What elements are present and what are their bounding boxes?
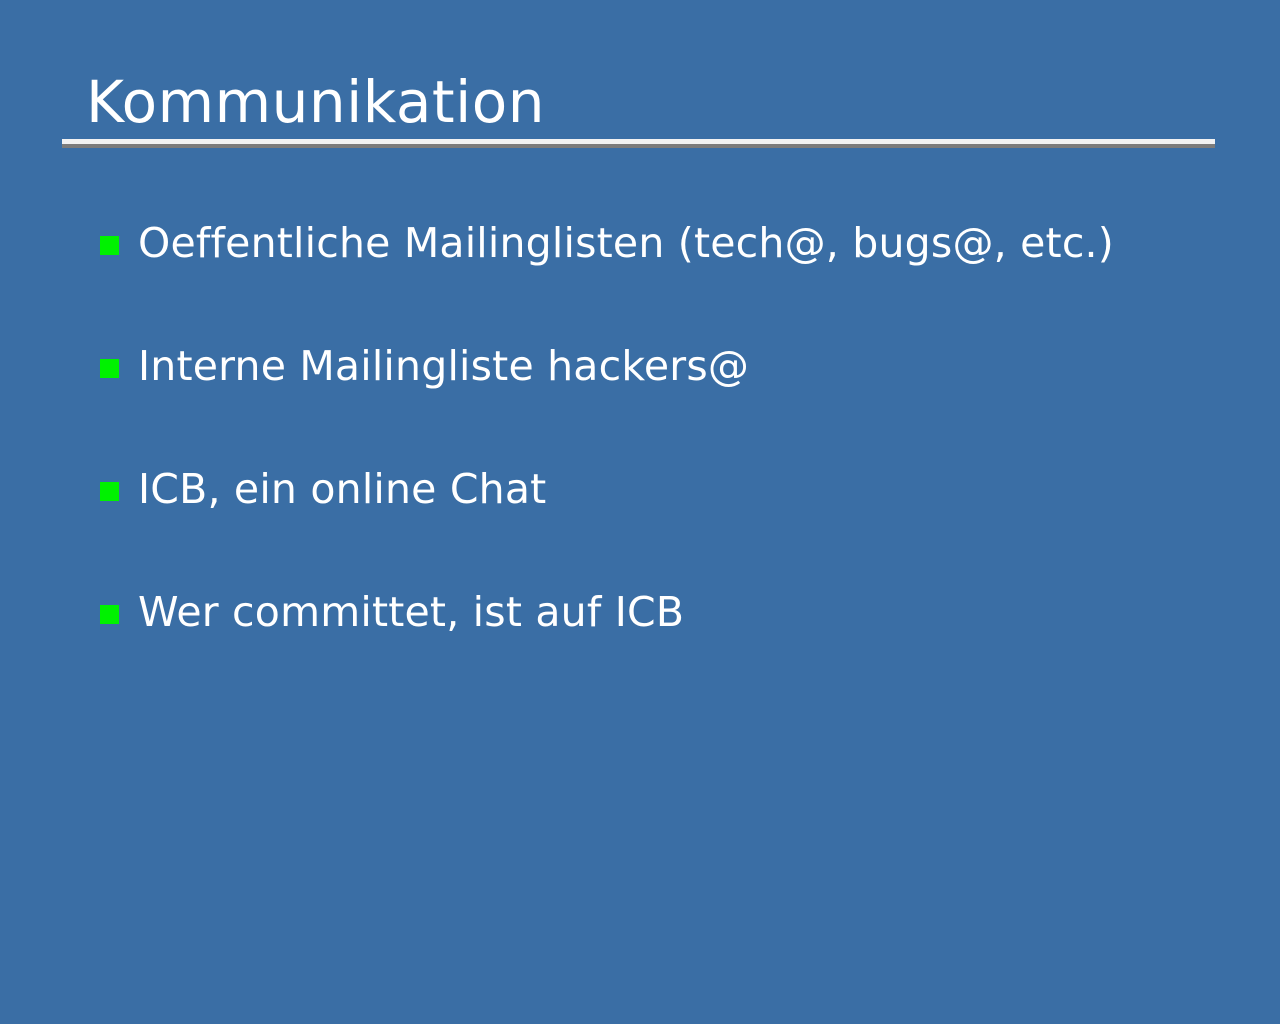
list-item: Interne Mailingliste hackers@ [100, 337, 1240, 460]
list-item: Wer committet, ist auf ICB [100, 583, 1240, 706]
list-item: ICB, ein online Chat [100, 460, 1240, 583]
bullet-list: Oeffentliche Mailinglisten (tech@, bugs@… [100, 214, 1240, 706]
list-item: Oeffentliche Mailinglisten (tech@, bugs@… [100, 214, 1240, 337]
list-item-label: ICB, ein online Chat [138, 460, 1240, 518]
square-bullet-icon [100, 482, 119, 501]
square-bullet-icon [100, 236, 119, 255]
square-bullet-icon [100, 605, 119, 624]
list-item-label: Wer committet, ist auf ICB [138, 583, 1240, 641]
list-item-label: Oeffentliche Mailinglisten (tech@, bugs@… [138, 214, 1240, 272]
list-item-label: Interne Mailingliste hackers@ [138, 337, 1240, 395]
page-title: Kommunikation [62, 66, 1222, 138]
presentation-slide: Kommunikation Oeffentliche Mailinglisten… [0, 0, 1280, 1024]
title-divider [62, 139, 1215, 148]
square-bullet-icon [100, 359, 119, 378]
title-divider-shadow [62, 144, 1215, 148]
